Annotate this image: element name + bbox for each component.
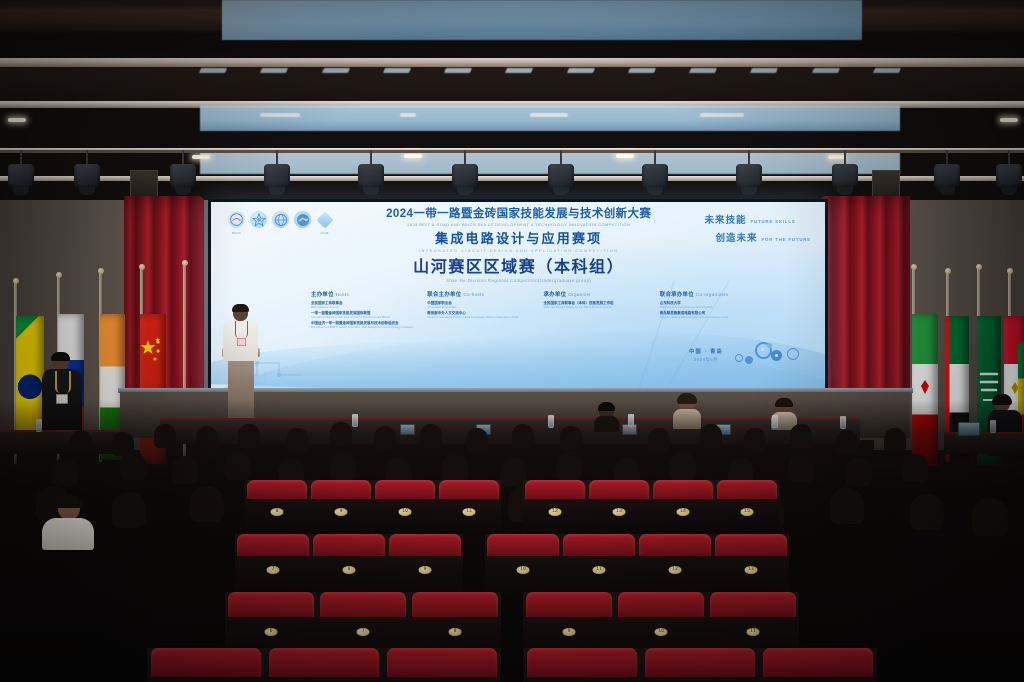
seat-number: 12 <box>549 508 562 516</box>
organizer-name-en: China National Committee <box>427 306 533 309</box>
seat-number: 10 <box>399 508 412 516</box>
organizer-heading-en: Co-hosts <box>463 292 484 297</box>
seat[interactable]: 12 <box>523 480 587 534</box>
seat-number: 10 <box>517 566 530 574</box>
ceiling-beam-upper <box>0 58 1024 67</box>
ceiling-slat <box>199 68 227 73</box>
ceiling-slat-row <box>200 68 900 88</box>
seat[interactable]: 13 <box>713 534 789 596</box>
screen-title-block: 2024一带一路暨金砖国家技能发展与技术创新大赛 2024 BELT & ROA… <box>333 208 704 283</box>
organizer-column-hosts: 主办单位Hosts 全民国家工商联事会BRICS Business Counci… <box>311 290 417 332</box>
organizer-heading-cn: 承办单位 <box>544 292 567 298</box>
presenter-at-podium <box>220 305 260 363</box>
organizer-heading-cn: 联合承办单位 <box>660 292 694 298</box>
wave-circle-logo <box>294 211 311 228</box>
event-subtitle-cn: 集成电路设计与应用赛项 <box>333 232 704 246</box>
gear-icon <box>767 343 772 348</box>
gear-icon <box>735 354 743 362</box>
event-subtitle-en: INTEGRATED CIRCUIT DESIGN AND APPLICATIO… <box>333 249 704 253</box>
ceiling-slat <box>383 68 411 73</box>
seat-number: 12 <box>669 566 682 574</box>
ceiling-slat <box>628 68 656 73</box>
event-city: 中国 · 青岛 <box>666 348 746 355</box>
seat-number: 10 <box>655 628 668 636</box>
organizer-name-en: BRICS Business Council <box>311 306 417 309</box>
slogan-block: 未来技能 FUTURE SKILLS 创造未来 FOR THE FUTURE <box>704 212 811 244</box>
ceiling-window-strip <box>200 105 900 131</box>
event-place-block: 中国 · 青岛 2024年6月 <box>666 348 746 363</box>
seat-number: 14 <box>677 508 690 516</box>
slogan-line1-en: FUTURE SKILLS <box>751 219 796 224</box>
organizer-heading-en: Co-organizers <box>696 292 729 297</box>
seat[interactable] <box>147 648 265 682</box>
organizer-name-en: Qingdao Lianseng Micro Integrated Circui… <box>660 316 766 319</box>
lighting-pipe <box>0 150 1024 153</box>
seat[interactable] <box>759 648 877 682</box>
ceiling-slat <box>505 68 533 73</box>
seat[interactable]: 8 <box>311 534 387 596</box>
ceiling-slat <box>750 68 778 73</box>
ceiling-slat <box>322 68 350 73</box>
organizer-heading-en: Organizer <box>568 292 591 297</box>
star-emblem-logo <box>250 211 267 228</box>
logo-caption: AVA|B <box>320 232 328 235</box>
seat-number: 13 <box>613 508 626 516</box>
seat-number: 9 <box>419 566 432 574</box>
organizer-heading-cn: 联合主办单位 <box>427 292 461 298</box>
sponsor-logo-strip: BRICS AVA|B <box>228 211 333 228</box>
seat-row-4: 8 9 10 11 12 13 14 15 <box>0 480 1024 534</box>
organizer-heading-en: Hosts <box>336 292 349 297</box>
slogan-line2-en: FOR THE FUTURE <box>762 237 812 242</box>
organizer-name-en: Belt & Road and BRICS Training Committee… <box>311 326 417 329</box>
organizer-name-en: Skills Development Working Group, BRICS … <box>544 306 650 309</box>
seat-number: 9 <box>563 628 576 636</box>
brics-skills-logo: BRICS <box>228 211 245 228</box>
organizer-name-en: Center for International People-to-Peopl… <box>427 316 533 319</box>
seat-number: 7 <box>267 566 280 574</box>
seat-number: 8 <box>343 566 356 574</box>
seat-number: 7 <box>357 628 370 636</box>
seat[interactable]: 9 <box>309 480 373 534</box>
led-stage-screen: BRICS AVA|B <box>208 199 828 400</box>
ceiling-slat <box>873 68 901 73</box>
organizer-columns: 主办单位Hosts 全民国家工商联事会BRICS Business Counci… <box>311 290 766 332</box>
logo-caption: BRICS <box>232 232 241 235</box>
event-date: 2024年6月 <box>666 357 746 363</box>
seat[interactable]: 8 <box>245 480 309 534</box>
ceiling-slat <box>567 68 595 73</box>
organizer-name-en: Shandong University of Science and Techn… <box>660 306 766 309</box>
gear-icon <box>745 356 753 364</box>
seat[interactable] <box>383 648 501 682</box>
seat[interactable] <box>265 648 383 682</box>
seat[interactable]: 11 <box>561 534 637 596</box>
organizer-column-cohosts: 联合主办单位Co-hosts 中国国家职业会China National Com… <box>427 290 533 332</box>
seat-row-1-front <box>0 648 1024 682</box>
seat[interactable]: 14 <box>651 480 715 534</box>
globe-logo <box>272 211 289 228</box>
region-title-en: Shan He Division Regional Competition(Un… <box>333 278 704 283</box>
organizer-name-en: International Alliance of Skills Develop… <box>311 316 417 319</box>
ceiling-slat <box>444 68 472 73</box>
seat[interactable]: 9 <box>387 534 463 596</box>
gear-icon <box>787 348 799 360</box>
ceiling-slat <box>689 68 717 73</box>
diamond-logo: AVA|B <box>316 211 333 228</box>
slogan-line2-cn: 创造未来 <box>715 230 757 244</box>
seat-number: 11 <box>747 628 760 636</box>
seat-number: 11 <box>463 508 476 516</box>
seat[interactable]: 13 <box>587 480 651 534</box>
seat-number: 11 <box>593 566 606 574</box>
region-title-cn: 山河赛区区域赛（本科组） <box>333 259 704 277</box>
seat[interactable] <box>523 648 641 682</box>
competition-title-en: 2024 BELT & ROAD AND BRICS SKILLS DEVELO… <box>333 222 704 227</box>
organizer-column-coorganizers: 联合承办单位Co-organizers 山东科技大学Shandong Unive… <box>660 290 766 332</box>
ceiling-slat <box>260 68 288 73</box>
gear-icon <box>771 350 782 361</box>
seat-number: 6 <box>265 628 278 636</box>
seat-number: 13 <box>745 566 758 574</box>
seat[interactable]: 12 <box>637 534 713 596</box>
seat-number: 8 <box>271 508 284 516</box>
slogan-line1-cn: 未来技能 <box>704 212 746 226</box>
seat-number: 9 <box>335 508 348 516</box>
seat[interactable]: 10 <box>485 534 561 596</box>
seat[interactable]: 10 <box>373 480 437 534</box>
organizer-heading-cn: 主办单位 <box>311 292 334 298</box>
name-badge <box>237 338 246 346</box>
competition-title-cn: 2024一带一路暨金砖国家技能发展与技术创新大赛 <box>333 208 704 221</box>
seat[interactable]: 15 <box>715 480 779 534</box>
ceiling-slat <box>812 68 840 73</box>
seat[interactable]: 7 <box>235 534 311 596</box>
seat[interactable]: 11 <box>437 480 501 534</box>
lanyard <box>235 321 248 338</box>
seat-number: 8 <box>449 628 462 636</box>
seat-row-3: 7 8 9 10 11 12 13 <box>0 534 1024 596</box>
auditorium-photo: BRICS AVA|B <box>0 0 1024 682</box>
organizer-column-organizer: 承办单位Organizer 全民国家工商联事会（本科）技能发展工作组Skills… <box>544 290 650 332</box>
seat-number: 15 <box>741 508 754 516</box>
seat[interactable] <box>641 648 759 682</box>
ceiling-skylight-glare <box>222 0 862 40</box>
